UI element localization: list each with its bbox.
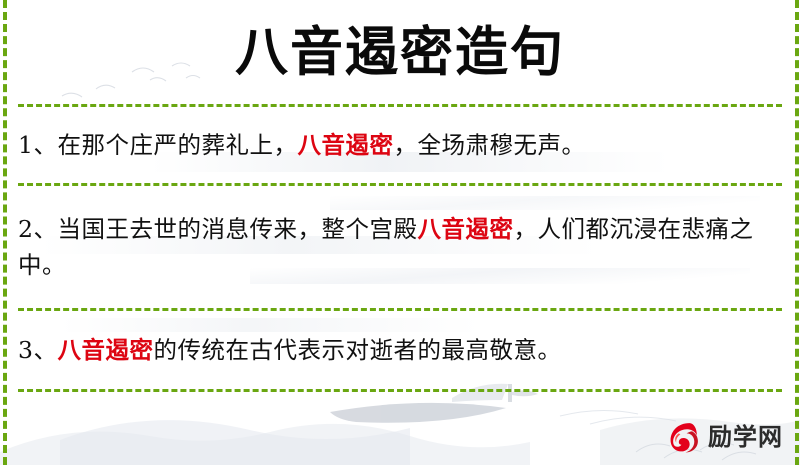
sentence-2-keyword: 八音遏密 xyxy=(417,215,513,243)
sentence-1-text: 1、在那个庄严的葬礼上，八音遏密，全场肃穆无声。 xyxy=(18,127,585,163)
sentence-1-after: ，全场肃穆无声。 xyxy=(393,131,585,159)
page-title: 八音遏密造句 xyxy=(235,26,565,79)
sentence-2-before: 当国王去世的消息传来，整个宫殿 xyxy=(57,215,417,243)
content-column: 八音遏密造句 1、在那个庄严的葬礼上，八音遏密，全场肃穆无声。 2、当国王去世的… xyxy=(18,0,782,465)
sentence-3-index: 3、 xyxy=(18,336,57,364)
sentence-3-text: 3、八音遏密的传统在古代表示对逝者的最高敬意。 xyxy=(18,332,561,368)
frame-border-left xyxy=(3,0,7,465)
red-swirl-flame-icon xyxy=(668,421,701,454)
sentence-row: 2、当国王去世的消息传来，整个宫殿八音遏密，人们都沉浸在悲痛之中。 xyxy=(18,186,782,308)
sentence-row: 1、在那个庄严的葬礼上，八音遏密，全场肃穆无声。 xyxy=(18,107,782,183)
sentence-card-page: 八音遏密造句 1、在那个庄严的葬礼上，八音遏密，全场肃穆无声。 2、当国王去世的… xyxy=(0,0,800,465)
site-logo: 励学网 xyxy=(668,417,783,457)
sentence-2-index: 2、 xyxy=(18,215,57,243)
sentence-row: 3、八音遏密的传统在古代表示对逝者的最高敬意。 xyxy=(18,311,782,389)
frame-border-right xyxy=(795,0,799,465)
site-logo-text: 励学网 xyxy=(708,425,783,449)
sentence-3-after: 的传统在古代表示对逝者的最高敬意。 xyxy=(153,336,561,364)
sentence-1-before: 在那个庄严的葬礼上， xyxy=(57,131,297,159)
sentence-1-keyword: 八音遏密 xyxy=(297,131,393,159)
separator-3 xyxy=(18,389,782,392)
sentence-2-text: 2、当国王去世的消息传来，整个宫殿八音遏密，人们都沉浸在悲痛之中。 xyxy=(18,211,768,283)
sentence-3-keyword: 八音遏密 xyxy=(57,336,153,364)
page-title-area: 八音遏密造句 xyxy=(18,0,782,104)
sentence-1-index: 1、 xyxy=(18,131,57,159)
